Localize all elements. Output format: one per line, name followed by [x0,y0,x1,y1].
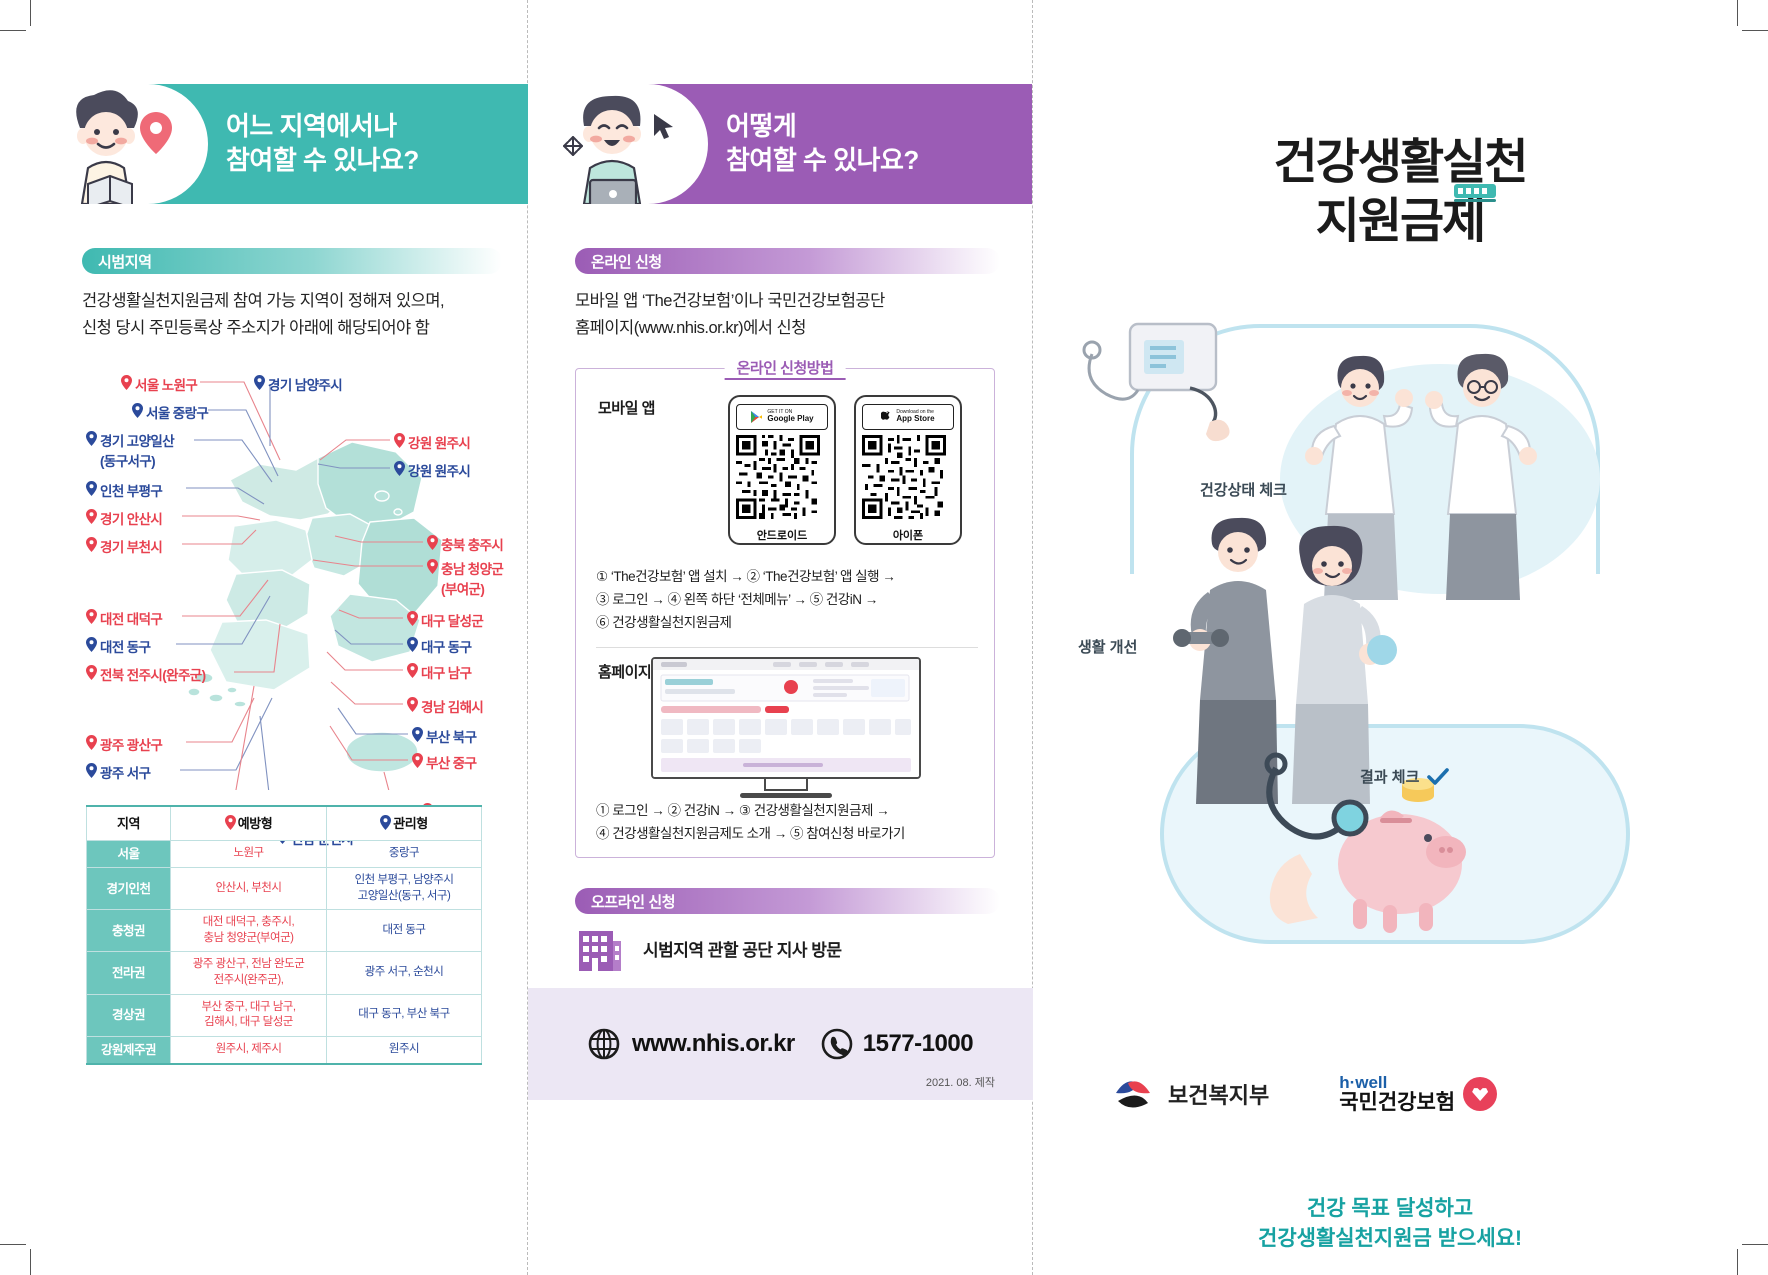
brand-emblem-icon [1452,182,1498,204]
online-method-title: 온라인 신청방법 [725,357,846,380]
table-row: 충청권대전 대덕구, 충주시,충남 청양군(부여군)대전 동구 [87,910,482,952]
pin-blue-icon [412,727,423,742]
android-qr-code[interactable] [736,435,820,519]
region-table: 지역 예방형 관리형 서울노원구중랑구경기인천안산시, 부천시인천 부평구, 남… [86,805,482,1065]
nhis-logo: h·well 국민건강보험 [1339,1074,1497,1114]
section-header-online: 온라인 신청 [575,248,1000,274]
table-cell-management: 광주 서구, 순천시 [327,952,482,994]
map-label-text: 경기 안산시 [100,508,162,528]
globe-icon [588,1028,620,1060]
pilot-region-body: 건강생활실천지원금제 참여 가능 지역이 정해져 있으며, 신청 당시 주민등록… [82,288,502,341]
col-prevention-label: 예방형 [238,816,272,831]
map-label-21: 부산 북구 [412,726,476,746]
crop-mark [0,30,26,31]
banner-where-line2: 참여할 수 있나요? [226,145,419,175]
map-label-9: 광주 광산구 [86,734,162,754]
table-cell-prevention: 안산시, 부천시 [171,868,327,910]
section-title-offline: 오프라인 신청 [591,891,675,912]
map-label-10: 광주 서구 [86,762,150,782]
map-label-text: 강원 원주시 [408,432,470,452]
pin-blue-icon [394,461,405,476]
map-label-8: 전북 전주시(완주군) [86,664,206,684]
pin-blue-icon [132,403,143,418]
section-title-online: 온라인 신청 [591,251,662,272]
map-pin-icon [140,112,172,154]
check-icon [1427,768,1449,786]
map-label-text: 대전 동구 [100,636,150,656]
table-cell-prevention: 원주시, 제주시 [171,1036,327,1064]
crop-mark [0,1244,26,1245]
pin-red-icon [86,509,97,524]
pilot-region-line2: 신청 당시 주민등록상 주소지가 아래에 해당되어야 함 [82,315,502,342]
pin-red-icon [394,433,405,448]
map-label-text: 전북 전주시(완주군) [100,664,206,684]
map-label-5: 경기 부천시 [86,536,162,556]
pin-red-icon [407,611,418,626]
map-label-2: 경기 고양일산(동구서구) [86,430,174,470]
table-row: 강원제주권원주시, 제주시원주시 [87,1036,482,1064]
online-body-line2: 홈페이지(www.nhis.or.kr)에서 신청 [575,315,1000,342]
homepage-screenshot[interactable] [651,657,921,779]
col-region: 지역 [87,806,171,840]
pin-red-icon [86,665,97,680]
offline-text: 시범지역 관할 공단 지사 방문 [643,936,842,961]
col-prevention: 예방형 [171,806,327,840]
map-label-13: 강원 원주시 [394,432,470,452]
phone-text: 1577-1000 [863,1030,973,1058]
crop-mark [1742,1244,1768,1245]
map-label-7: 대전 동구 [86,636,150,656]
pin-blue-icon [86,481,97,496]
table-cell-prevention: 부산 중구, 대구 남구,김해시, 대구 달성군 [171,994,327,1036]
web-steps: ① 로그인 → ② 건강iN → ③ 건강생활실천지원금제 → ④ 건강생활실천… [596,799,986,845]
crop-mark [1737,1249,1738,1275]
map-label-text: 부산 북구 [426,726,476,746]
hero-illustration: 건강상태 체크 [1060,314,1720,954]
korea-map: 서울 노원구서울 중랑구경기 고양일산(동구서구)인천 부평구경기 안산시경기 … [82,360,542,790]
google-play-big: Google Play [767,415,813,423]
crop-mark [30,0,31,26]
map-label-text: 대구 달성군 [421,610,483,630]
map-label-text: 대구 동구 [421,636,471,656]
website-text: www.nhis.or.kr [632,1030,795,1058]
mohw-mark-icon [1110,1071,1156,1117]
apple-icon [881,411,892,424]
heart-icon [1463,1077,1497,1111]
pin-red-icon [86,735,97,750]
table-cell-region: 서울 [87,840,171,868]
section-header-offline: 오프라인 신청 [575,888,1000,914]
device-illustration [1070,314,1290,504]
pin-blue-icon [380,815,391,830]
android-phone-card: GET IT ON Google Play [728,395,836,545]
person-with-laptop-icon [583,96,641,204]
map-label-text: 대전 대덕구 [100,608,162,628]
web-step-line1: ① 로그인 → ② 건강iN → ③ 건강생활실천지원금제 → [596,799,986,822]
mohw-name: 보건복지부 [1168,1078,1269,1110]
table-cell-management: 대전 동구 [327,910,482,952]
map-label-text: 서울 노원구 [135,374,197,394]
section-header-pilot-region: 시범지역 [82,248,502,274]
stethoscope-icon [1267,755,1366,837]
pin-red-icon [412,753,423,768]
person-with-map-icon [76,90,138,204]
col-management: 관리형 [327,806,482,840]
map-label-sub: (부여군) [441,578,503,598]
app-step-line3: ⑥ 건강생활실천지원금제 [596,611,978,634]
pin-blue-icon [254,375,265,390]
label-result: 결과 체크 [1360,766,1449,787]
table-row: 경기인천안산시, 부천시인천 부평구, 남양주시고양일산(동구, 서구) [87,868,482,910]
map-label-text: 경기 남양주시 [268,374,342,394]
app-step-line1: ① ‘The건강보험’ 앱 설치 → ② ‘The건강보험’ 앱 실행 → [596,565,978,588]
map-label-19: 대구 남구 [407,662,471,682]
crop-mark [1742,30,1768,31]
ios-phone-card: Download on the App Store [854,395,962,545]
map-label-3: 인천 부평구 [86,480,162,500]
map-label-1: 서울 중랑구 [132,402,208,422]
map-label-16: 충남 청양군(부여군) [427,558,503,598]
banner-where-line1: 어느 지역에서나 [226,111,397,141]
table-row: 서울노원구중랑구 [87,840,482,868]
homepage-monitor [651,657,921,798]
map-regions [188,442,442,772]
cursor-arrow-icon [654,114,673,139]
google-play-badge[interactable]: GET IT ON Google Play [736,404,828,430]
map-label-text: 광주 광산구 [100,734,162,754]
map-label-6: 대전 대덕구 [86,608,162,628]
table-cell-management: 인천 부평구, 남양주시고양일산(동구, 서구) [327,868,482,910]
website-item[interactable]: www.nhis.or.kr [588,1028,795,1060]
mobile-app-heading: 모바일 앱 [598,397,655,418]
app-store-big: App Store [896,415,934,423]
android-caption: 안드로이드 [736,527,828,543]
table-header-row: 지역 예방형 관리형 [87,806,482,840]
table-cell-region: 강원제주권 [87,1036,171,1064]
pin-blue-icon [86,431,97,446]
map-label-text: 인천 부평구 [100,480,162,500]
online-body-line1: 모바일 앱 ‘The건강보험’이나 국민건강보험공단 [575,288,1000,315]
banner-how-line1: 어떻게 [726,111,796,141]
pin-red-icon [407,697,418,712]
production-date: 2021. 08. 제작 [926,1074,995,1090]
map-label-18: 대구 동구 [407,636,471,656]
building-icon [575,925,623,971]
col-management-label: 관리형 [393,816,427,831]
offline-row: 시범지역 관할 공단 지사 방문 [575,925,1000,971]
table-cell-management: 중랑구 [327,840,482,868]
pin-red-icon [225,815,236,830]
homepage-heading: 홈페이지 [598,661,651,682]
ios-caption: 아이폰 [862,527,954,543]
map-label-20: 경남 김해시 [407,696,483,716]
region-table-body: 서울노원구중랑구경기인천안산시, 부천시인천 부평구, 남양주시고양일산(동구,… [87,840,482,1064]
online-body: 모바일 앱 ‘The건강보험’이나 국민건강보험공단 홈페이지(www.nhis… [575,288,1000,341]
hero-caption-line1: 건강 목표 달성하고 [1060,1194,1720,1224]
homepage-preview-svg [653,659,919,777]
monitor-base [740,793,832,798]
table-cell-region: 경상권 [87,994,171,1036]
pin-blue-icon [86,637,97,652]
pin-red-icon [407,663,418,678]
pin-red-icon [86,537,97,552]
map-label-12: 경기 남양주시 [254,374,342,394]
table-cell-region: 충청권 [87,910,171,952]
map-label-text: 강원 원주시 [408,460,470,480]
phone-icon [821,1028,853,1060]
illustration-map-person [28,84,208,204]
banner-how-title: 어떻게 참여할 수 있나요? [708,110,919,178]
table-cell-management: 원주시 [327,1036,482,1064]
map-label-15: 충북 충주시 [427,534,503,554]
banner-how: 어떻게 참여할 수 있나요? [528,84,1032,204]
map-label-0: 서울 노원구 [121,374,197,394]
pin-red-icon [86,609,97,624]
pin-red-icon [427,559,438,574]
table-cell-prevention: 대전 대덕구, 충주시,충남 청양군(부여군) [171,910,327,952]
map-label-text: 충북 충주시 [441,534,503,554]
hero-caption: 건강 목표 달성하고 건강생활실천지원금 받으세요! [1060,1194,1720,1255]
app-store-badge[interactable]: Download on the App Store [862,404,954,430]
table-cell-region: 전라권 [87,952,171,994]
ios-qr-code[interactable] [862,435,946,519]
map-label-text: 서울 중랑구 [146,402,208,422]
pilot-region-section: 시범지역 건강생활실천지원금제 참여 가능 지역이 정해져 있으며, 신청 당시… [82,248,502,341]
map-label-text: 경기 고양일산(동구서구) [100,430,174,470]
table-cell-region: 경기인천 [87,868,171,910]
map-label-17: 대구 달성군 [407,610,483,630]
banner-where-title: 어느 지역에서나 참여할 수 있나요? [208,110,419,178]
move-arrows-icon [564,137,582,155]
contact-bar: www.nhis.or.kr 1577-1000 2021. 08. 제작 [528,988,1033,1100]
pin-blue-icon [86,763,97,778]
label-lifestyle: 생활 개선 [1078,636,1137,657]
map-label-4: 경기 안산시 [86,508,162,528]
map-label-text: 충남 청양군(부여군) [441,558,503,598]
map-label-text: 부산 중구 [426,752,476,772]
table-cell-management: 대구 동구, 부산 북구 [327,994,482,1036]
nhis-korean: 국민건강보험 [1339,1092,1455,1114]
map-label-14: 강원 원주시 [394,460,470,480]
table-row: 경상권부산 중구, 대구 남구,김해시, 대구 달성군대구 동구, 부산 북구 [87,994,482,1036]
nhis-text: h·well 국민건강보험 [1339,1074,1455,1114]
nhis-hwell: h·well [1339,1074,1455,1092]
online-method-box: 온라인 신청방법 모바일 앱 GET IT ON Google Play [575,368,995,858]
phone-item[interactable]: 1577-1000 [821,1028,973,1060]
illustration-laptop-person [528,84,708,204]
pin-red-icon [427,535,438,550]
hero-caption-line2: 건강생활실천지원금 받으세요! [1060,1224,1720,1254]
map-label-22: 부산 중구 [412,752,476,772]
map-label-text: 경남 김해시 [421,696,483,716]
app-step-line2: ③ 로그인 → ④ 왼쪽 하단 ‘전체메뉴’ → ⑤ 건강iN → [596,588,978,611]
google-play-icon [750,410,763,424]
pin-blue-icon [407,637,418,652]
divider [596,647,978,648]
banner-how-line2: 참여할 수 있나요? [726,145,919,175]
map-label-text: 광주 서구 [100,762,150,782]
online-application-section: 온라인 신청 모바일 앱 ‘The건강보험’이나 국민건강보험공단 홈페이지(w… [575,248,1000,341]
monitor-stand [764,779,808,791]
app-steps: ① ‘The건강보험’ 앱 설치 → ② ‘The건강보험’ 앱 실행 → ③ … [596,565,978,635]
brochure-page: 어느 지역에서나 참여할 수 있나요? [0,0,1768,1275]
mohw-logo: 보건복지부 [1110,1071,1269,1117]
banner-where: 어느 지역에서나 참여할 수 있나요? [28,84,528,204]
crop-mark [1737,0,1738,26]
map-label-text: 대구 남구 [421,662,471,682]
table-row: 전라권광주 광산구, 전남 완도군전주시(완주군),광주 서구, 순천시 [87,952,482,994]
pin-red-icon [121,375,132,390]
region-table-head: 지역 예방형 관리형 [87,806,482,840]
label-result-text: 결과 체크 [1360,766,1419,787]
footer-logos: 보건복지부 h·well 국민건강보험 [1070,1059,1720,1129]
table-cell-prevention: 광주 광산구, 전남 완도군전주시(완주군), [171,952,327,994]
section-title-pilot-region: 시범지역 [98,251,152,272]
table-cell-prevention: 노원구 [171,840,327,868]
map-label-text: 경기 부천시 [100,536,162,556]
map-label-sub: (동구서구) [100,450,174,470]
pilot-region-line1: 건강생활실천지원금제 참여 가능 지역이 정해져 있으며, [82,288,502,315]
page-title: 건강생활실천 지원금제 [1140,134,1660,251]
crop-mark [30,1249,31,1275]
brand-line2: 지원금제 [1140,193,1660,252]
label-health-check: 건강상태 체크 [1200,479,1287,500]
web-step-line2: ④ 건강생활실천지원금제도 소개 → ⑤ 참여신청 바로가기 [596,822,986,845]
offline-application-section: 오프라인 신청 [575,888,1000,914]
right-panel: 건강생활실천 지원금제 건강상태 체크 [1040,84,1740,1235]
